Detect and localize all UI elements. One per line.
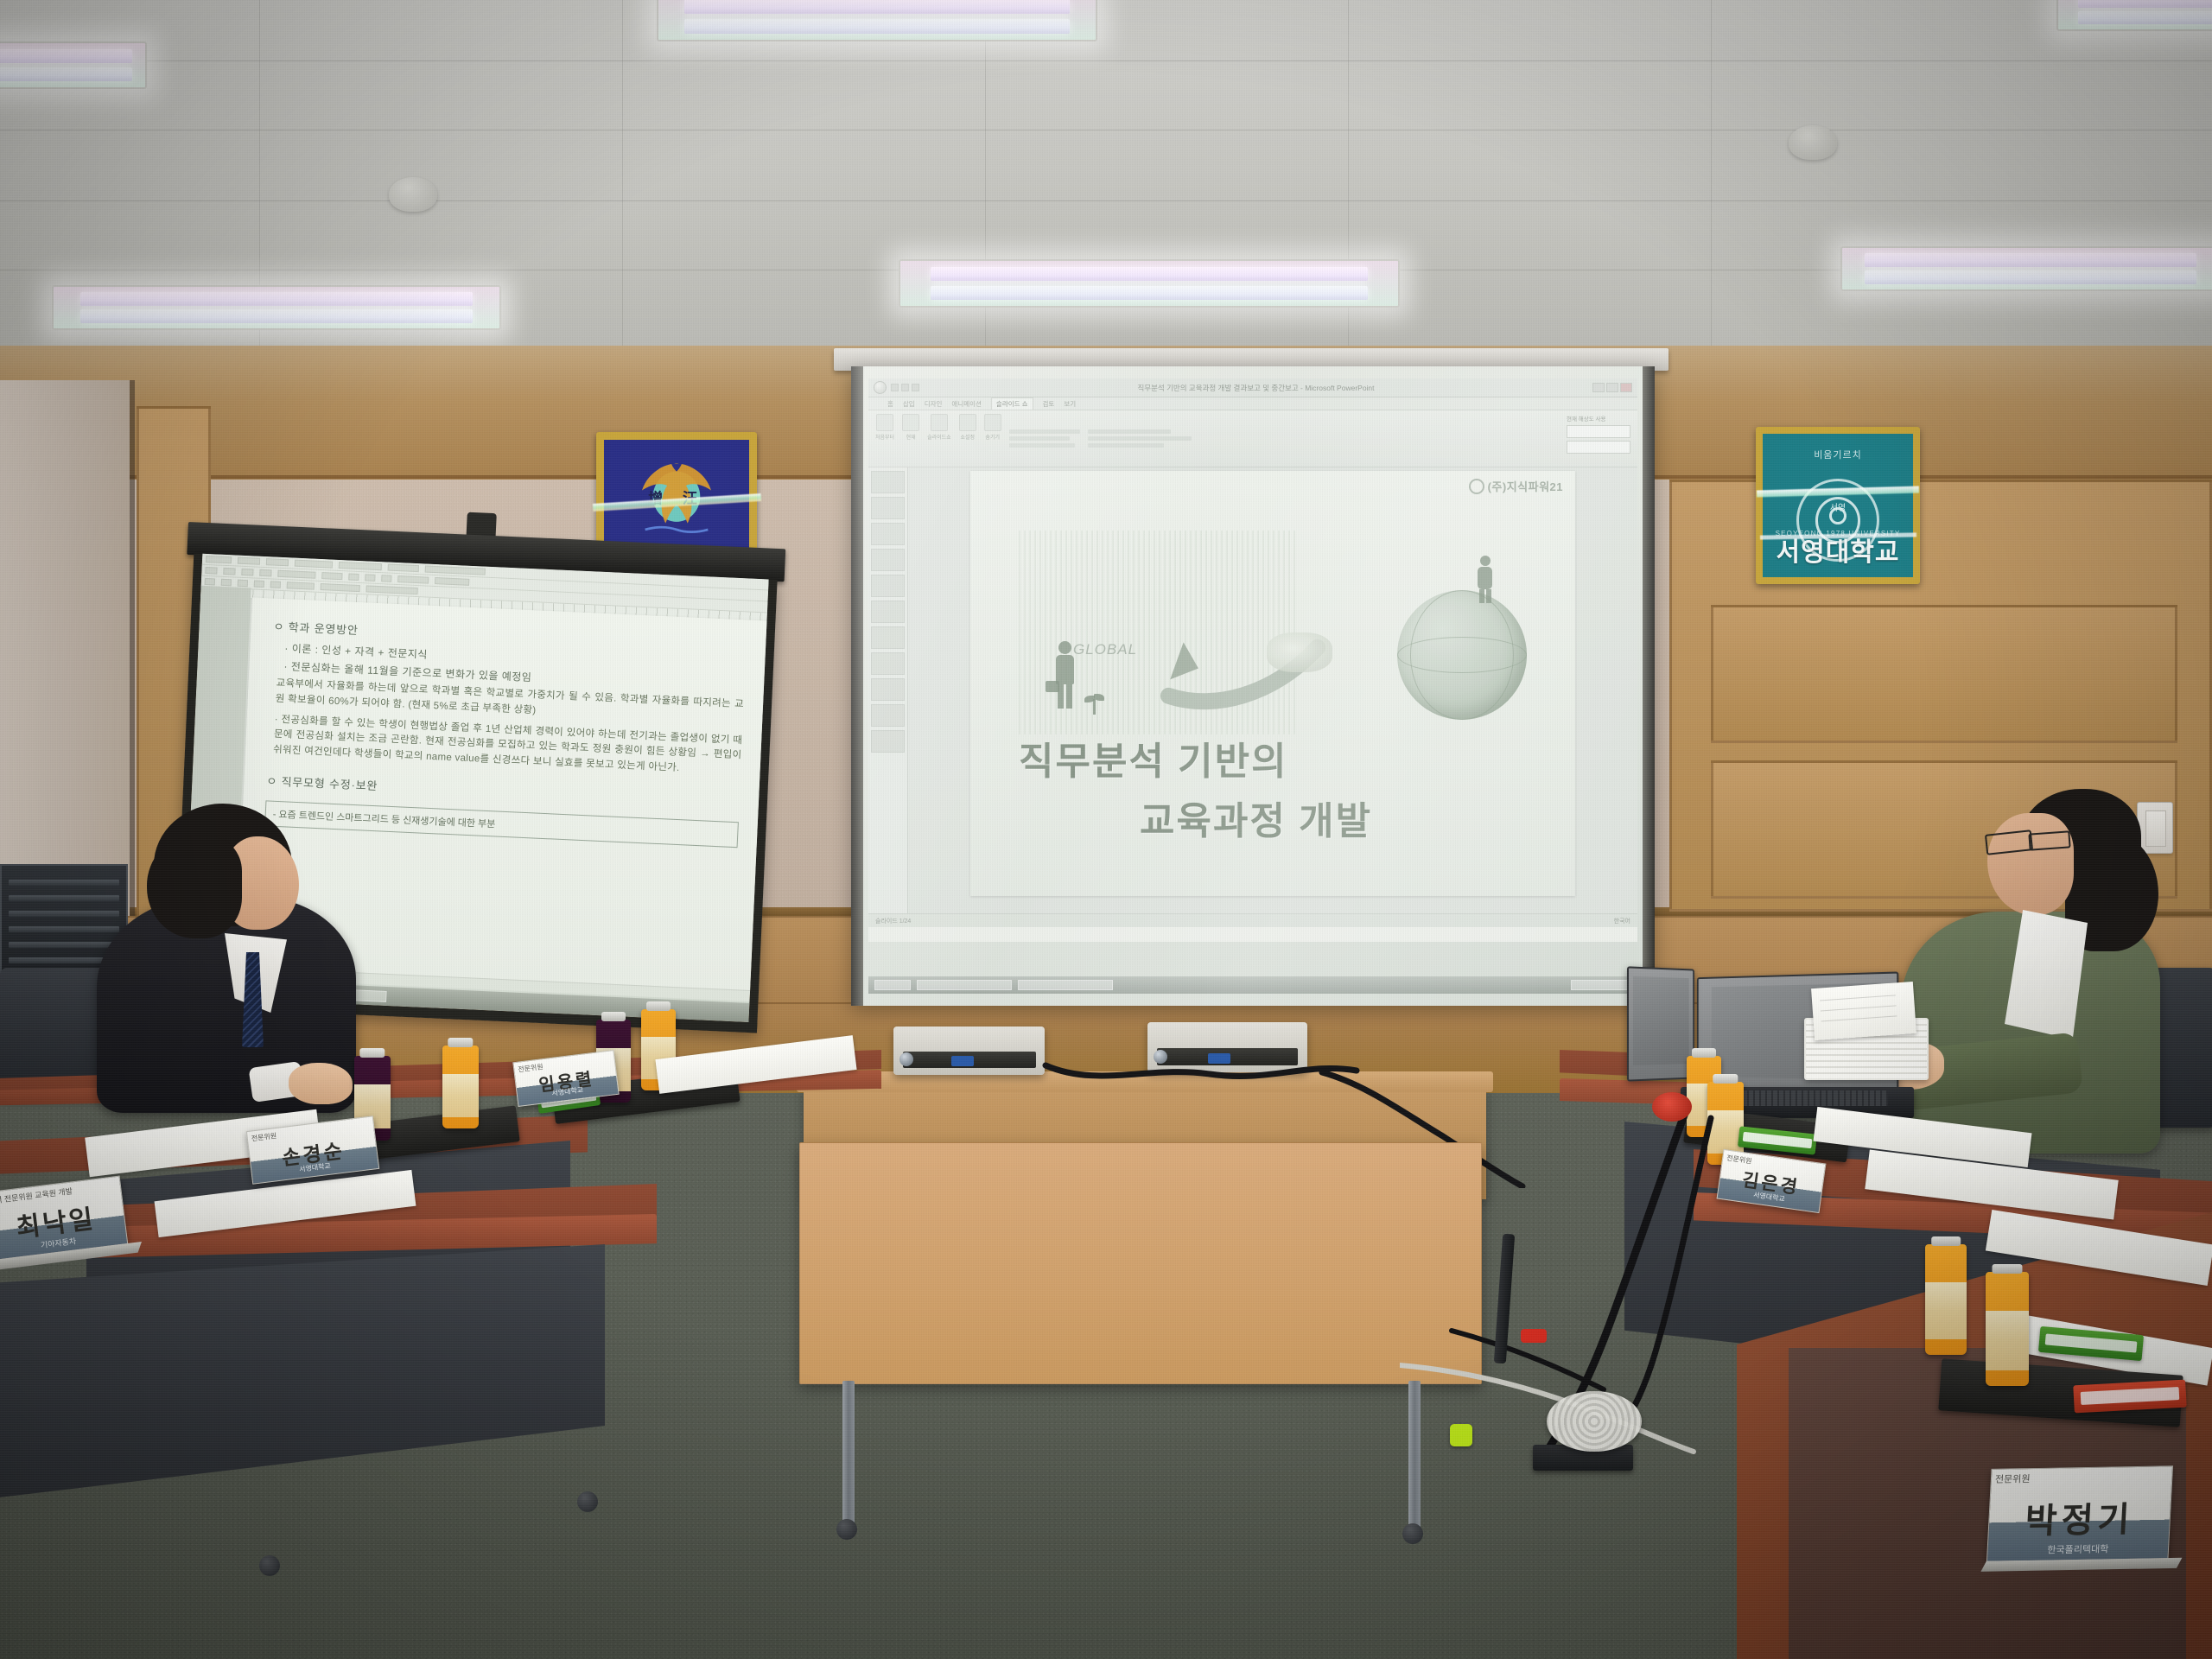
print-icon[interactable] xyxy=(259,569,271,577)
mans-hair-side xyxy=(147,836,242,938)
ceiling-light-fixture xyxy=(0,41,147,89)
windows-taskbar[interactable] xyxy=(868,976,1637,994)
glasses-temple xyxy=(2028,830,2070,850)
globe-graphic xyxy=(1397,590,1527,720)
extra-tools[interactable] xyxy=(366,585,418,594)
placard-role: 전문위원 xyxy=(1995,1471,2031,1486)
setup-show-icon[interactable] xyxy=(959,414,976,431)
tab-slideshow[interactable]: 슬라이드 쇼 xyxy=(991,397,1033,410)
current-slide: (주)지식파워21 GLOBAL xyxy=(970,471,1575,896)
save-icon[interactable] xyxy=(891,384,899,391)
juice-bottle-orange xyxy=(1986,1272,2029,1386)
businessman-on-globe-figure xyxy=(1474,556,1497,604)
font-name-dropdown[interactable] xyxy=(277,570,315,579)
powerpoint-title-bar: 직무분석 기반의 교육과정 개발 결과보고 및 중간보고 - Microsoft… xyxy=(868,378,1637,397)
table-caster xyxy=(836,1519,857,1540)
snack-bar xyxy=(2073,1380,2186,1414)
seal-center-text: 서영 xyxy=(1799,500,1877,513)
smoke-detector xyxy=(1789,125,1837,160)
menu-tools[interactable] xyxy=(388,564,419,573)
table-leg xyxy=(842,1381,855,1528)
custom-show-icon[interactable] xyxy=(931,414,948,431)
quick-access-toolbar[interactable] xyxy=(891,384,919,391)
powerpoint-window[interactable]: 직무분석 기반의 교육과정 개발 결과보고 및 중간보고 - Microsoft… xyxy=(868,378,1637,942)
ribbon-button-hide-slide[interactable]: 숨기기 xyxy=(984,414,1001,463)
powerpoint-status-bar: 슬라이드 1/24 한국어 xyxy=(868,913,1637,927)
slide-thumbnail[interactable] xyxy=(871,652,905,675)
polygon-shape-icon[interactable] xyxy=(270,581,281,588)
ceiling xyxy=(0,0,2212,372)
slide-thumbnail[interactable] xyxy=(871,471,905,493)
menu-view[interactable] xyxy=(266,558,289,566)
system-tray[interactable] xyxy=(1571,980,1631,990)
minimize-icon[interactable] xyxy=(1592,383,1605,392)
slide-counter: 슬라이드 1/24 xyxy=(875,917,911,925)
seal-top-text: 비움기르치 xyxy=(1763,448,1913,461)
underline-icon[interactable] xyxy=(381,575,391,582)
slide-thumbnail[interactable] xyxy=(871,497,905,519)
table-icon[interactable] xyxy=(287,582,315,589)
handshake-graphic xyxy=(1267,632,1332,672)
arc-shape-icon[interactable] xyxy=(254,581,264,588)
ceiling-light-fixture xyxy=(657,0,1097,41)
slide-thumbnail[interactable] xyxy=(871,549,905,571)
align-icons[interactable] xyxy=(397,575,429,584)
meeting-room-photo: 增 汪 비움기르치 서영 SEOYEONG 1978 UNIVERSITY 서영… xyxy=(0,0,2212,1659)
slide-thumbnail[interactable] xyxy=(871,575,905,597)
menu-extra[interactable] xyxy=(425,565,486,575)
taskbar-item-presentation[interactable] xyxy=(917,980,1012,990)
ceiling-light-fixture xyxy=(1840,246,2212,291)
smoke-detector xyxy=(389,177,437,212)
powerpoint-document-title: 직무분석 기반의 교육과정 개발 결과보고 및 중간보고 - Microsoft… xyxy=(919,383,1592,393)
tab-design[interactable]: 디자인 xyxy=(925,399,943,409)
slide-thumbnail-pane[interactable] xyxy=(868,467,908,927)
ellipse-shape-icon[interactable] xyxy=(238,580,248,588)
ceiling-light-fixture xyxy=(899,259,1400,308)
main-projection-screen: 직무분석 기반의 교육과정 개발 결과보고 및 중간보고 - Microsoft… xyxy=(851,366,1655,1006)
table-caster xyxy=(577,1491,598,1512)
resolution-dropdown[interactable] xyxy=(1567,425,1630,438)
slide-title-line2: 교육과정 개발 xyxy=(1140,790,1372,845)
rectangle-shape-icon[interactable] xyxy=(221,579,232,587)
secondary-monitor[interactable] xyxy=(1627,966,1694,1081)
tab-home[interactable]: 홈 xyxy=(887,399,893,409)
red-cable-connector xyxy=(1652,1092,1692,1122)
cable-clip-green xyxy=(1450,1424,1472,1446)
start-button[interactable] xyxy=(874,980,911,990)
juice-bottle-orange xyxy=(1925,1244,1967,1355)
mans-hand xyxy=(289,1063,353,1104)
wall-wood-panel xyxy=(1711,605,2177,743)
ceiling-light-fixture xyxy=(2056,0,2212,31)
menu-file[interactable] xyxy=(206,556,232,563)
slide-stage: (주)지식파워21 GLOBAL xyxy=(908,467,1637,927)
slide-thumbnail[interactable] xyxy=(871,523,905,545)
open-icon[interactable] xyxy=(223,568,235,575)
line-shape-icon[interactable] xyxy=(205,578,215,586)
name-placard-choi: 지역 전문위원 교육원 개발 최낙일 기아자동차 xyxy=(0,1176,128,1262)
table-caster xyxy=(259,1555,280,1576)
italic-icon[interactable] xyxy=(365,574,375,582)
name-placard-park: 전문위원 박정기 한국폴리텍대학 xyxy=(1986,1465,2173,1562)
slide-thumbnail[interactable] xyxy=(871,730,905,753)
ribbon-checkbox-group-2[interactable] xyxy=(1088,414,1192,463)
slide-thumbnail[interactable] xyxy=(871,601,905,623)
resolution-label: 현재 해상도 사용 xyxy=(1567,414,1630,423)
redo-icon[interactable] xyxy=(912,384,919,391)
undo-icon[interactable] xyxy=(901,384,909,391)
save-icon[interactable] xyxy=(241,569,253,576)
language-indicator: 한국어 xyxy=(1614,917,1630,925)
seedling-icon xyxy=(1085,692,1104,715)
university-emblem: 비움기르치 서영 SEOYEONG 1978 UNIVERSITY 서영대학교 xyxy=(1756,427,1920,584)
ribbon-button-from-current[interactable]: 현재 xyxy=(902,414,919,463)
womans-face xyxy=(1987,813,2074,915)
slide-thumbnail[interactable] xyxy=(871,626,905,649)
new-doc-icon[interactable] xyxy=(205,567,217,575)
cable-clip-red xyxy=(1521,1329,1547,1343)
ribbon-button-custom-show[interactable]: 슬라이드쇼 xyxy=(927,414,951,463)
maximize-icon[interactable] xyxy=(1606,383,1618,392)
slideshow-start-icon[interactable] xyxy=(876,414,893,431)
company-logo-text: (주)지식파워21 xyxy=(1488,478,1563,494)
slide-title-line1: 직무분석 기반의 xyxy=(1019,730,1288,785)
tab-view[interactable]: 보기 xyxy=(1064,399,1076,409)
placard-org: 한국폴리텍대학 xyxy=(1987,1541,2168,1558)
ribbon[interactable]: 처음부터 현재 슬라이드쇼 쇼설정 숨기기 xyxy=(868,410,1637,467)
businessman-figure xyxy=(1049,641,1084,710)
participant-woman-right xyxy=(1884,782,2195,1145)
office-orb-icon[interactable] xyxy=(874,381,887,394)
equation-icon[interactable] xyxy=(321,583,360,592)
screen-pull-knob[interactable] xyxy=(467,512,497,538)
font-size-dropdown[interactable] xyxy=(321,572,342,580)
hide-slide-icon[interactable] xyxy=(984,414,1001,431)
list-icons[interactable] xyxy=(435,577,469,586)
ribbon-tabs[interactable]: 홈 삽입 디자인 애니메이션 슬라이드 쇼 검토 보기 xyxy=(868,397,1637,410)
close-icon[interactable] xyxy=(1620,383,1632,392)
slide-thumbnail[interactable] xyxy=(871,678,905,701)
bold-icon[interactable] xyxy=(348,573,359,581)
ribbon-button-start-from-beginning[interactable]: 처음부터 xyxy=(875,414,894,463)
tab-insert[interactable]: 삽입 xyxy=(903,399,915,409)
menu-format[interactable] xyxy=(339,562,382,570)
company-logo: (주)지식파워21 xyxy=(1469,478,1563,494)
powerpoint-workspace: (주)지식파워21 GLOBAL xyxy=(868,467,1637,927)
ribbon-button-setup-show[interactable]: 쇼설정 xyxy=(959,414,976,463)
folding-table xyxy=(799,1142,1482,1384)
floor-cables xyxy=(1400,1106,1849,1590)
cable-bundle xyxy=(1547,1391,1642,1452)
window-controls[interactable] xyxy=(1592,383,1632,392)
slide-thumbnail[interactable] xyxy=(871,704,905,727)
power-mark-icon xyxy=(1469,479,1484,494)
ribbon-checkbox-group[interactable] xyxy=(1009,414,1080,463)
wall-pillar xyxy=(0,380,130,916)
menu-insert[interactable] xyxy=(295,560,333,569)
menu-edit[interactable] xyxy=(238,557,260,565)
juice-bottle-orange xyxy=(442,1046,479,1128)
ceiling-light-fixture xyxy=(52,285,501,330)
tab-review[interactable]: 검토 xyxy=(1043,399,1055,409)
tab-animations[interactable]: 애니메이션 xyxy=(951,399,982,409)
papers-in-basket xyxy=(1811,982,1916,1040)
monitor-dropdown[interactable] xyxy=(1567,441,1630,454)
placard-name: 박정기 xyxy=(1988,1491,2171,1544)
slideshow-current-icon[interactable] xyxy=(902,414,919,431)
taskbar-item-powerpoint[interactable] xyxy=(1018,980,1113,990)
